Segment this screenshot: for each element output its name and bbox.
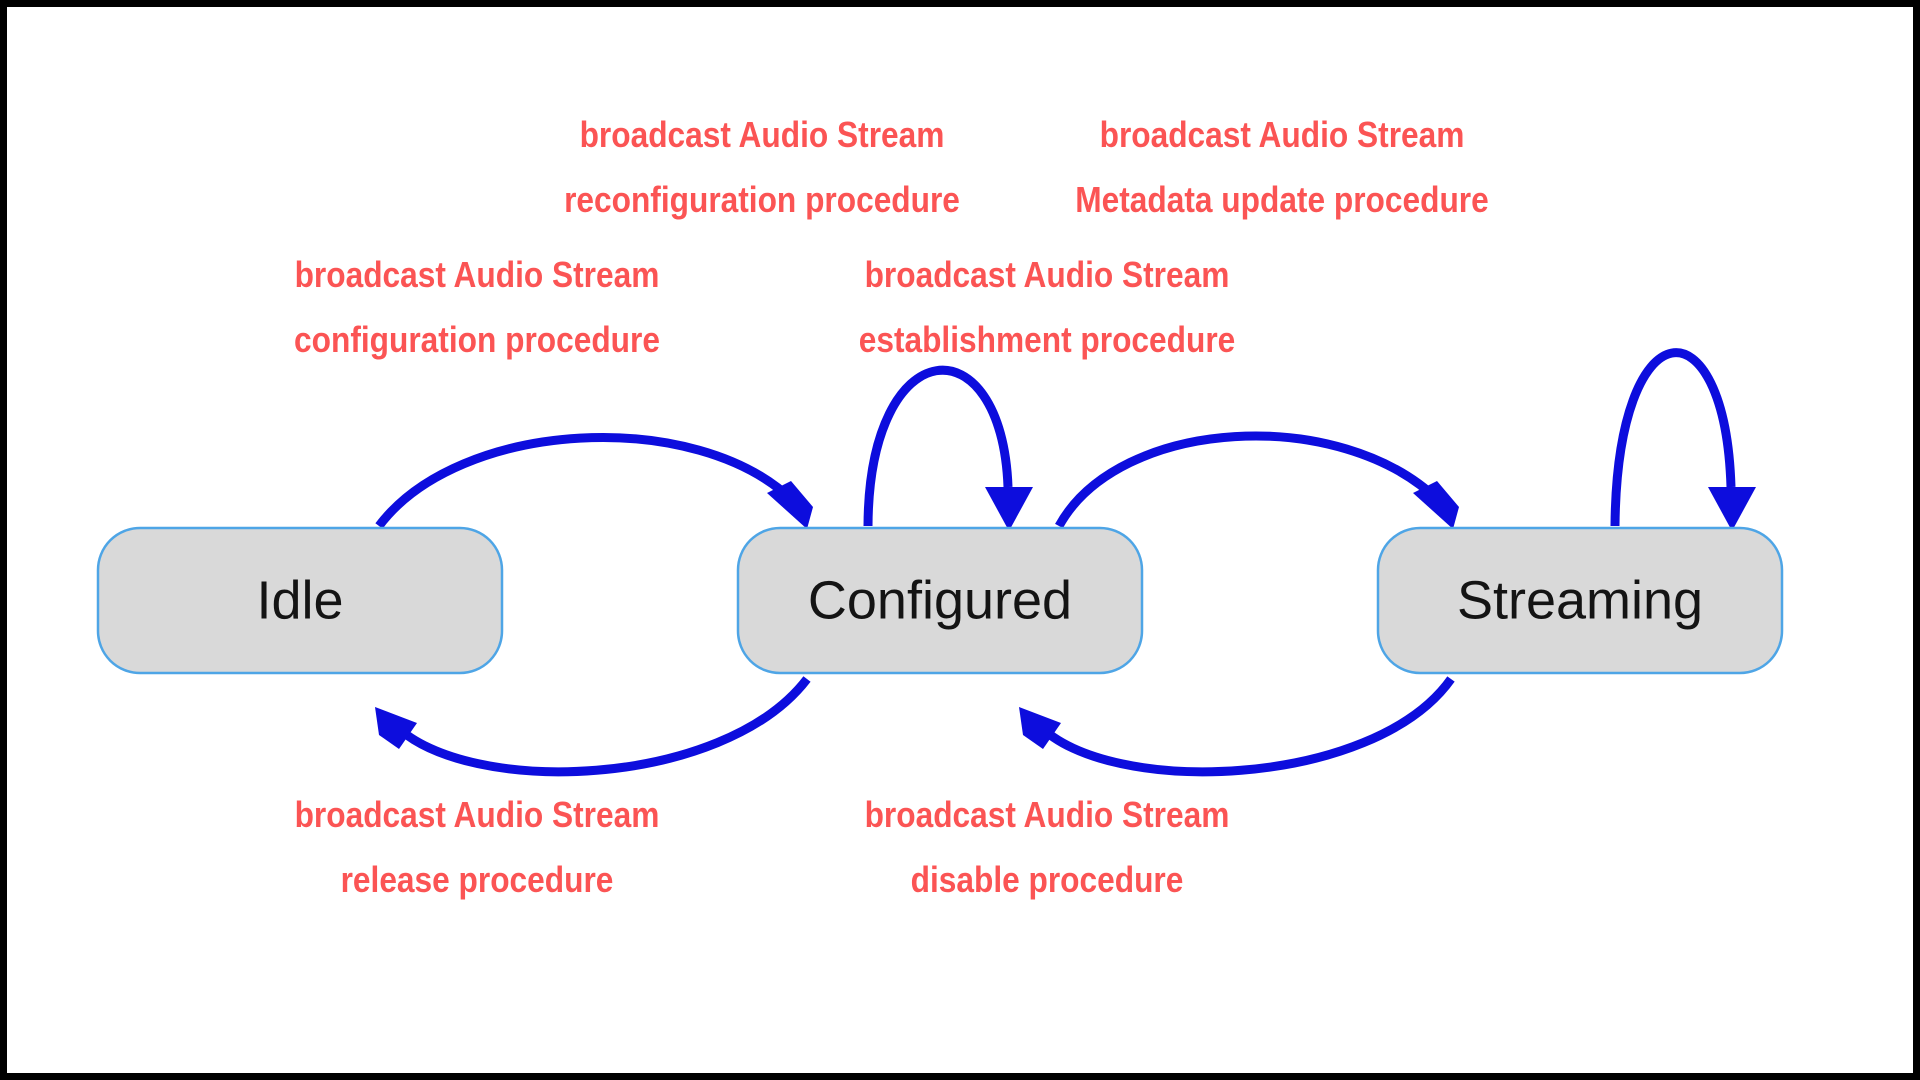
edge-configured-self-reconfiguration[interactable] bbox=[868, 370, 1033, 531]
image-frame: Idle Configured Streaming broadcast Audi… bbox=[0, 0, 1920, 1080]
edge-label-line1: broadcast Audio Stream bbox=[1100, 115, 1465, 155]
edge-label-configured-to-idle: broadcast Audio Stream release procedure bbox=[295, 795, 660, 900]
edge-path-streaming-to-configured bbox=[1039, 679, 1451, 772]
state-diagram: Idle Configured Streaming broadcast Audi… bbox=[7, 7, 1913, 1073]
edge-label-line2: establishment procedure bbox=[859, 320, 1236, 360]
edge-label-line2: Metadata update procedure bbox=[1075, 180, 1488, 220]
node-streaming[interactable]: Streaming bbox=[1378, 528, 1782, 673]
edge-label-configured-self-reconfiguration: broadcast Audio Stream reconfiguration p… bbox=[564, 115, 960, 220]
edge-label-line2: disable procedure bbox=[911, 860, 1184, 900]
edge-configured-to-streaming[interactable] bbox=[1059, 436, 1459, 529]
edge-label-streaming-to-configured: broadcast Audio Stream disable procedure bbox=[865, 795, 1230, 900]
edge-path-configured-to-streaming bbox=[1059, 436, 1439, 526]
edge-label-line2: reconfiguration procedure bbox=[564, 180, 960, 220]
edge-label-line1: broadcast Audio Stream bbox=[865, 795, 1230, 835]
arrowhead-configured-self bbox=[985, 487, 1033, 531]
edge-label-line2: release procedure bbox=[341, 860, 614, 900]
edge-path-idle-to-configured bbox=[379, 437, 793, 526]
edge-label-line1: broadcast Audio Stream bbox=[865, 255, 1230, 295]
arrowhead-streaming-self bbox=[1708, 487, 1756, 531]
edge-label-configured-to-streaming: broadcast Audio Stream establishment pro… bbox=[859, 255, 1236, 360]
edge-path-configured-self bbox=[868, 370, 1008, 526]
edge-path-configured-to-idle bbox=[395, 679, 807, 772]
edge-path-streaming-self bbox=[1615, 353, 1731, 526]
node-streaming-label: Streaming bbox=[1457, 570, 1703, 630]
edge-label-line1: broadcast Audio Stream bbox=[580, 115, 945, 155]
edge-label-streaming-self-metadata-update: broadcast Audio Stream Metadata update p… bbox=[1075, 115, 1488, 220]
edge-streaming-to-configured[interactable] bbox=[1019, 679, 1451, 772]
node-idle-label: Idle bbox=[256, 570, 343, 630]
diagram-canvas: Idle Configured Streaming broadcast Audi… bbox=[7, 7, 1913, 1073]
edge-streaming-self-metadata-update[interactable] bbox=[1615, 353, 1756, 531]
edge-idle-to-configured[interactable] bbox=[379, 437, 813, 529]
node-configured-label: Configured bbox=[808, 570, 1072, 630]
node-configured[interactable]: Configured bbox=[738, 528, 1142, 673]
edge-configured-to-idle[interactable] bbox=[375, 679, 807, 772]
edge-label-line2: configuration procedure bbox=[294, 320, 660, 360]
edge-label-idle-to-configured: broadcast Audio Stream configuration pro… bbox=[294, 255, 660, 360]
edge-label-line1: broadcast Audio Stream bbox=[295, 795, 660, 835]
edge-label-line1: broadcast Audio Stream bbox=[295, 255, 660, 295]
node-idle[interactable]: Idle bbox=[98, 528, 502, 673]
